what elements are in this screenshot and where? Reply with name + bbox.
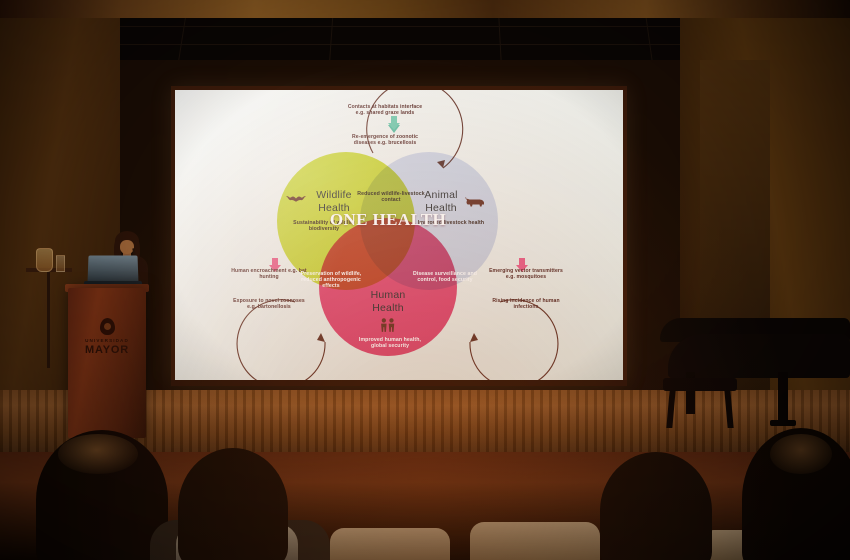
label-human-health-line1: Human [357,290,419,302]
grand-piano-foot [770,420,796,426]
overlap-wildlife-human: Preservation of wildlife, reduced anthro… [293,272,369,289]
laptop [87,255,138,283]
arrow-right-cause: Emerging vector transmitters e.g. mosqui… [485,268,567,280]
audience-member [600,452,712,560]
auditorium-photo: Contacts at habitats interface e.g. shar… [0,0,850,560]
audience-member-hair-highlight [770,434,832,474]
overlap-animal-human: Disease surveillance and control, food s… [407,272,483,284]
cow-icon [464,195,486,209]
overlap-wildlife-animal: Reduced wildlife-livestock contact [353,192,429,204]
projection-screen-bottom-bar [171,380,627,386]
water-carafe [36,248,53,272]
audience-member-hair-highlight [58,434,138,474]
people-icon [379,318,397,332]
drinking-glass [56,255,65,272]
university-crest-icon [100,318,115,335]
speaker-face [120,240,134,254]
grand-piano-leg [778,372,788,424]
podium-brand-main: MAYOR [74,344,140,356]
label-human-health-line2: Health [357,303,419,315]
caption-human: Improved human health, global security [351,338,429,350]
podium-logo: UNIVERSIDAD MAYOR [74,318,140,356]
side-table-leg [47,272,50,368]
one-health-venn-slide: Contacts at habitats interface e.g. shar… [175,90,623,380]
arrow-top-effect: Re-emergence of zoonotic diseases e.g. b… [345,134,425,146]
bat-icon [285,194,307,203]
audience-member [178,448,288,560]
one-health-title: ONE HEALTH [325,210,451,229]
arrow-right-effect: Rising incidence of human infections [487,298,565,310]
audience-seat [330,528,450,560]
arrow-left-effect: Exposure to novel zoonoses e.g. bartonel… [229,298,309,310]
podium-brand-top: UNIVERSIDAD [74,338,140,343]
arrow-top-cause: Contacts at habitats interface e.g. shar… [343,104,427,116]
lectern-podium [68,288,146,438]
grand-piano-body [668,334,850,378]
projection-screen: Contacts at habitats interface e.g. shar… [175,90,623,380]
audience-seat [470,522,600,560]
